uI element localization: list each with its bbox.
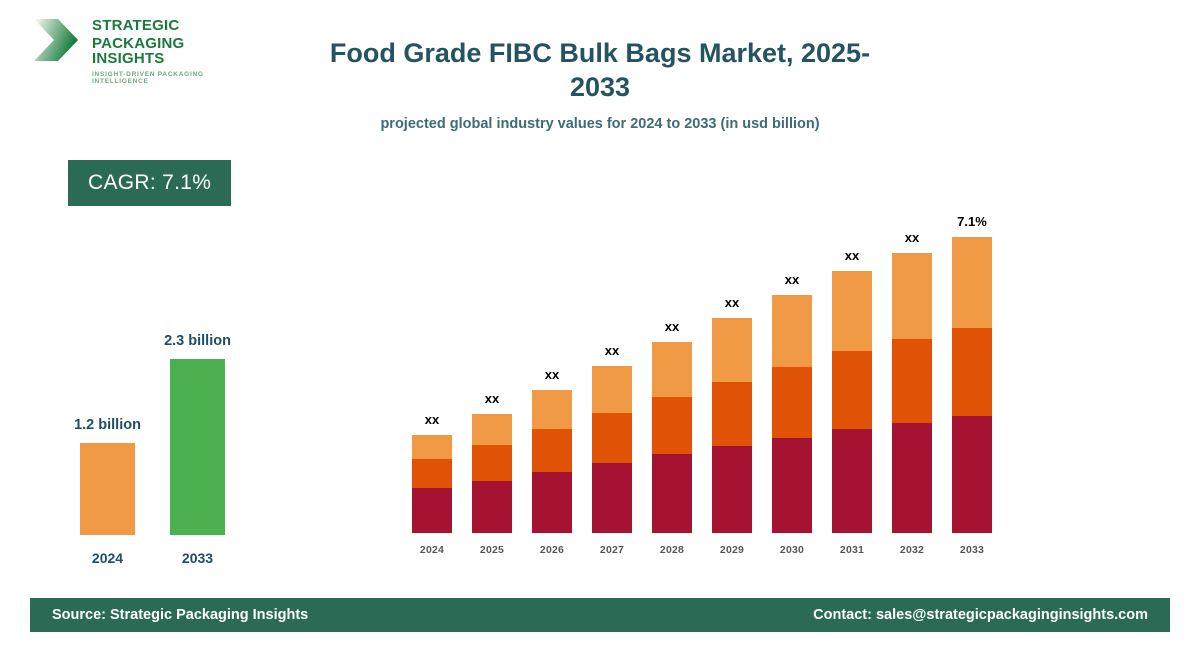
cagr-badge: CAGR: 7.1%	[68, 160, 231, 206]
bar-value-label: 7.1%	[952, 214, 992, 229]
brand-logo: STRATEGIC PACKAGING INSIGHTS INSIGHT-DRI…	[30, 14, 250, 74]
chevron-right-icon	[30, 16, 82, 64]
bar-segment-segment-3	[832, 271, 872, 351]
mini-bar-fill	[170, 359, 225, 535]
stacked-bar-2031	[832, 271, 872, 533]
bar-segment-segment-3	[592, 366, 632, 413]
mini-bar-year-label: 2024	[63, 550, 153, 566]
stacked-bar-2024	[412, 435, 452, 533]
stacked-bar-2030	[772, 295, 812, 533]
bar-segment-segment-2	[712, 382, 752, 446]
bar-segment-segment-2	[832, 351, 872, 429]
brand-wordmark: STRATEGIC PACKAGING INSIGHTS INSIGHT-DRI…	[92, 18, 250, 85]
bar-segment-segment-3	[412, 435, 452, 459]
mini-bar-2033	[170, 359, 225, 535]
bar-segment-segment-1	[772, 438, 812, 533]
bar-year-label: 2029	[712, 544, 752, 556]
bar-value-label: xx	[592, 343, 632, 358]
stacked-bar-2025	[472, 414, 512, 533]
bar-segment-segment-3	[652, 342, 692, 397]
page-title: Food Grade FIBC Bulk Bags Market, 2025-2…	[300, 36, 900, 104]
bar-year-label: 2028	[652, 544, 692, 556]
bar-year-label: 2024	[412, 544, 452, 556]
stacked-bar-2026	[532, 390, 572, 533]
bar-segment-segment-1	[412, 488, 452, 533]
bar-segment-segment-1	[592, 463, 632, 533]
bar-value-label: xx	[712, 295, 752, 310]
bar-segment-segment-2	[772, 367, 812, 438]
bar-segment-segment-3	[712, 318, 752, 382]
bar-segment-segment-1	[652, 454, 692, 533]
bar-segment-segment-2	[952, 328, 992, 416]
bar-segment-segment-2	[892, 339, 932, 423]
bar-value-label: xx	[652, 319, 692, 334]
footer-contact: Contact: sales@strategicpackaginginsight…	[813, 598, 1148, 632]
brand-line-2: PACKAGING INSIGHTS	[92, 36, 250, 66]
mini-bar-fill	[80, 443, 135, 535]
bar-segment-segment-1	[472, 481, 512, 533]
bar-segment-segment-1	[832, 429, 872, 533]
bar-segment-segment-2	[652, 397, 692, 454]
bar-value-label: xx	[472, 391, 512, 406]
bar-segment-segment-1	[712, 446, 752, 533]
bar-segment-segment-3	[952, 237, 992, 328]
stacked-bar-2029	[712, 318, 752, 533]
bar-year-label: 2033	[952, 544, 992, 556]
stacked-bar-2033	[952, 237, 992, 533]
bar-year-label: 2025	[472, 544, 512, 556]
bar-year-label: 2032	[892, 544, 932, 556]
mini-bar-2024	[80, 443, 135, 535]
stacked-bar-2027	[592, 366, 632, 533]
stacked-forecast-chart: xx2024xx2025xx2026xx2027xx2028xx2029xx20…	[400, 195, 1020, 560]
bar-value-label: xx	[772, 272, 812, 287]
bar-segment-segment-2	[472, 445, 512, 481]
brand-line-1: STRATEGIC	[92, 18, 250, 33]
bar-segment-segment-3	[472, 414, 512, 445]
bar-segment-segment-2	[532, 429, 572, 472]
bar-value-label: xx	[532, 367, 572, 382]
bar-value-label: xx	[892, 230, 932, 245]
bar-segment-segment-2	[592, 413, 632, 463]
bar-segment-segment-2	[412, 459, 452, 488]
stacked-bar-2028	[652, 342, 692, 533]
mini-bar-year-label: 2033	[153, 550, 243, 566]
bar-year-label: 2030	[772, 544, 812, 556]
bar-segment-segment-3	[772, 295, 812, 367]
bar-year-label: 2026	[532, 544, 572, 556]
bar-segment-segment-1	[892, 423, 932, 533]
bar-segment-segment-1	[952, 416, 992, 533]
mini-bar-value-label: 1.2 billion	[28, 417, 188, 433]
bar-value-label: xx	[412, 412, 452, 427]
footer-source: Source: Strategic Packaging Insights	[52, 598, 308, 632]
bar-segment-segment-3	[892, 253, 932, 339]
bar-segment-segment-3	[532, 390, 572, 429]
stacked-bar-2032	[892, 253, 932, 533]
bar-year-label: 2031	[832, 544, 872, 556]
bar-year-label: 2027	[592, 544, 632, 556]
mini-bar-value-label: 2.3 billion	[118, 333, 278, 349]
endpoint-comparison-chart: 1.2 billion20242.3 billion2033	[55, 300, 265, 570]
page-subtitle: projected global industry values for 202…	[300, 116, 900, 132]
bar-value-label: xx	[832, 248, 872, 263]
bar-segment-segment-1	[532, 472, 572, 533]
brand-tagline: INSIGHT-DRIVEN PACKAGING INTELLIGENCE	[92, 71, 250, 85]
footer-bar: Source: Strategic Packaging Insights Con…	[30, 598, 1170, 632]
